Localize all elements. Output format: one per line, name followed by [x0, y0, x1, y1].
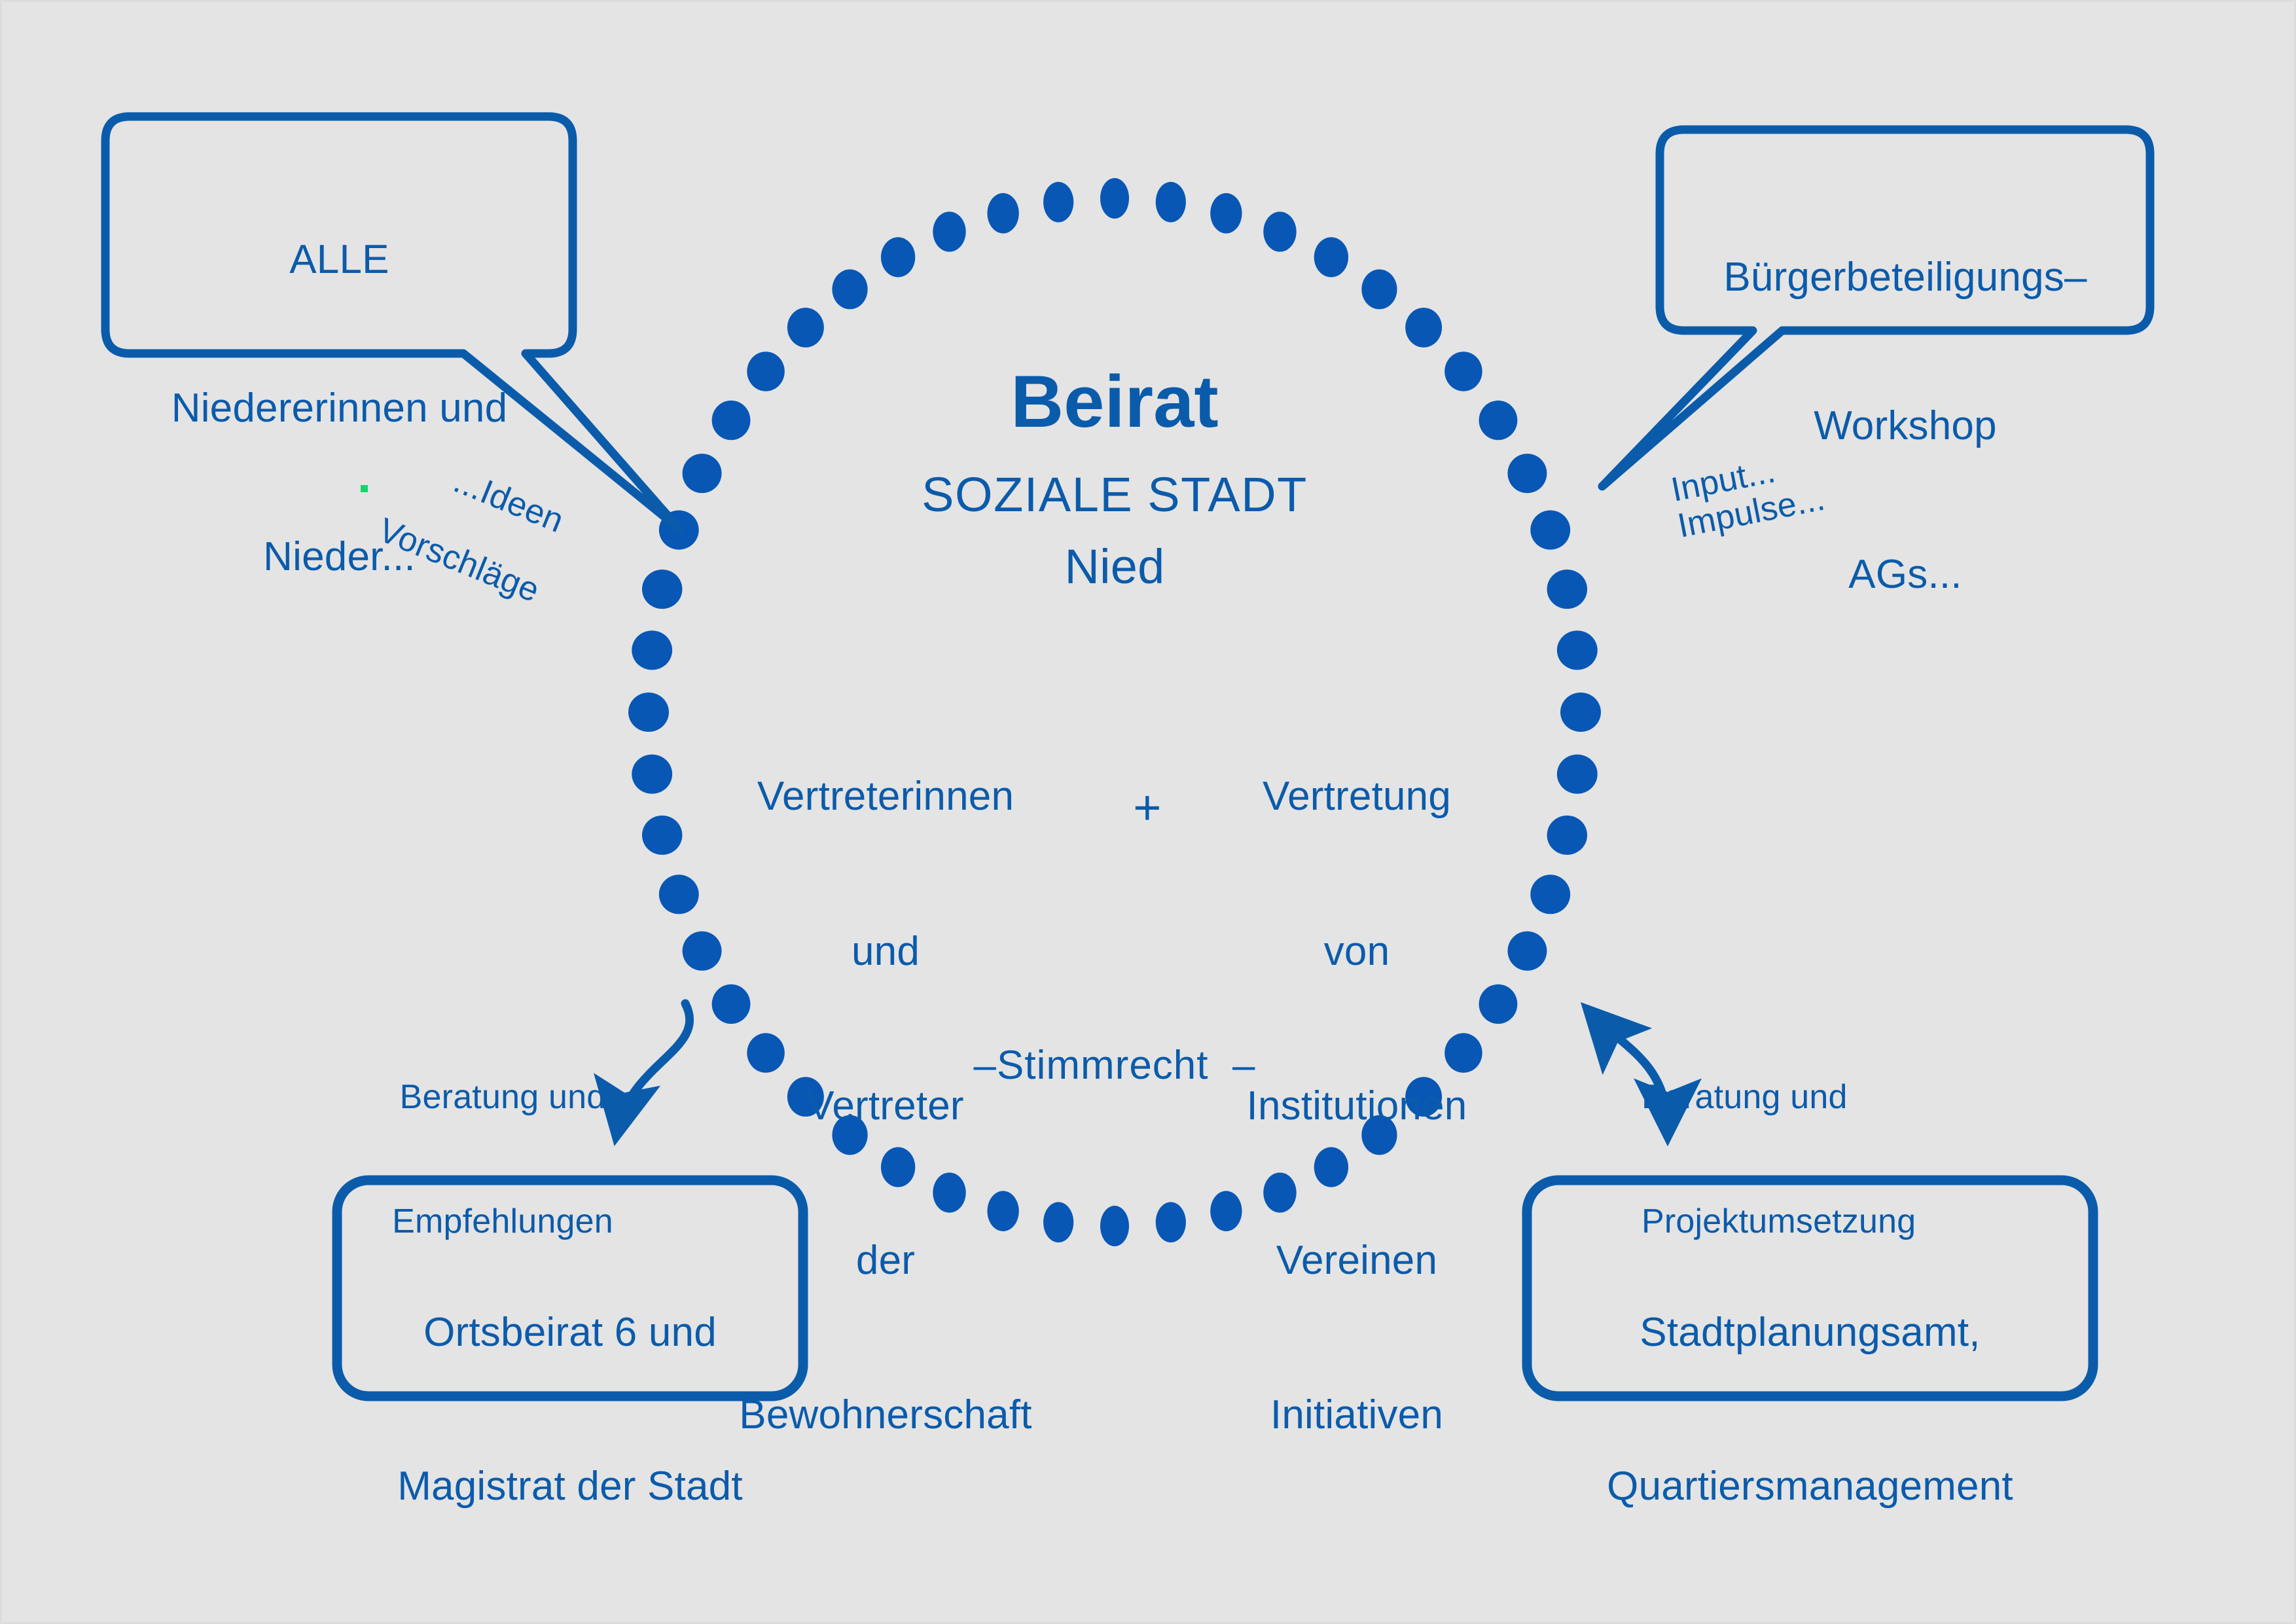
ring-dot: [832, 270, 867, 310]
center-right-column-line-3: Institutionen: [1180, 1081, 1534, 1132]
center-subtitle-line-2: Nied: [820, 540, 1409, 594]
ring-dot: [1156, 182, 1186, 223]
green-marker-dot: [361, 485, 368, 492]
ring-dot: [1547, 816, 1587, 855]
ring-dot: [1557, 630, 1598, 670]
box-bottom-left-text: Ortsbeirat 6 und Magistrat der Stadt Fra…: [337, 1205, 803, 1624]
center-footer: –Stimmrecht –: [886, 1043, 1344, 1088]
center-left-column-line-2: und: [715, 926, 1056, 978]
ring-dot: [1557, 755, 1598, 794]
ring-dot: [1444, 352, 1482, 391]
bubble-top-right-line-3: AGs...: [1660, 550, 2151, 600]
ring-dot: [1263, 211, 1296, 251]
ring-dot: [632, 630, 672, 670]
ring-dot: [1560, 693, 1601, 732]
bubble-top-right-line-1: Bürgerbeteiligungs–: [1660, 253, 2151, 302]
ring-dot: [1210, 193, 1242, 234]
bubble-top-left-line-1: ALLE: [105, 235, 573, 285]
ring-dot: [683, 454, 722, 493]
ring-dot: [642, 816, 682, 855]
ring-dot: [933, 211, 965, 251]
center-title: Beirat: [820, 361, 1409, 442]
center-left-column-line-3: Vertreter: [715, 1081, 1056, 1132]
box-bottom-right-text: Stadtplanungsamt, Quartiersmanagement un…: [1527, 1205, 2093, 1624]
ring-dot: [1479, 401, 1518, 440]
ring-dot: [1100, 1206, 1129, 1246]
center-left-column-line-1: Vertreterinnen: [715, 771, 1056, 823]
box-bottom-left-line-3: Frankfurt am Main: [337, 1614, 803, 1624]
bubble-top-right-text: Bürgerbeteiligungs– Workshop AGs...: [1660, 154, 2151, 698]
ring-dot: [712, 401, 751, 440]
ring-dot: [1530, 511, 1570, 550]
center-right-column-line-5: Initiativen: [1180, 1390, 1534, 1441]
box-bottom-left-line-1: Ortsbeirat 6 und: [337, 1307, 803, 1358]
diagram-canvas: ALLE Niedererinnen und Nieder... Bürgerb…: [0, 0, 2296, 1624]
center-right-column-line-2: von: [1180, 926, 1534, 978]
center-right-column-line-4: Vereinen: [1180, 1235, 1534, 1287]
ring-dot: [1547, 569, 1587, 609]
ring-dot: [787, 308, 824, 348]
ring-dot: [659, 875, 699, 914]
annotation-beratung-projektumsetzung-line-1: Beratung und: [1641, 1077, 1956, 1118]
ring-dot: [1405, 308, 1442, 348]
ring-dot: [1314, 237, 1348, 277]
ring-dot: [1507, 454, 1547, 493]
box-bottom-right-line-3: und Projektsteuerung: [1527, 1614, 2093, 1624]
bubble-top-left-line-2: Niedererinnen und: [105, 384, 573, 433]
ring-dot: [987, 193, 1018, 234]
center-subtitle-line-1: SOZIALE STADT: [820, 468, 1409, 522]
ring-dot: [628, 693, 669, 732]
center-right-column: Vertretung von Institutionen Vereinen In…: [1180, 668, 1534, 1544]
ring-dot: [1100, 178, 1129, 219]
box-bottom-right-line-1: Stadtplanungsamt,: [1527, 1307, 2093, 1358]
ring-dot: [1361, 270, 1397, 310]
ring-dot: [881, 237, 915, 277]
ring-dot: [632, 755, 672, 794]
annotation-beratung-empfehlungen-line-1: Beratung und: [365, 1077, 640, 1118]
ring-dot: [747, 352, 784, 391]
box-bottom-right-line-2: Quartiersmanagement: [1527, 1461, 2093, 1512]
ring-dot: [1530, 875, 1570, 914]
bubble-top-right-line-2: Workshop: [1660, 401, 2151, 451]
box-bottom-left-line-2: Magistrat der Stadt: [337, 1461, 803, 1512]
center-right-column-line-1: Vertretung: [1180, 771, 1534, 823]
ring-dot: [1043, 182, 1073, 223]
